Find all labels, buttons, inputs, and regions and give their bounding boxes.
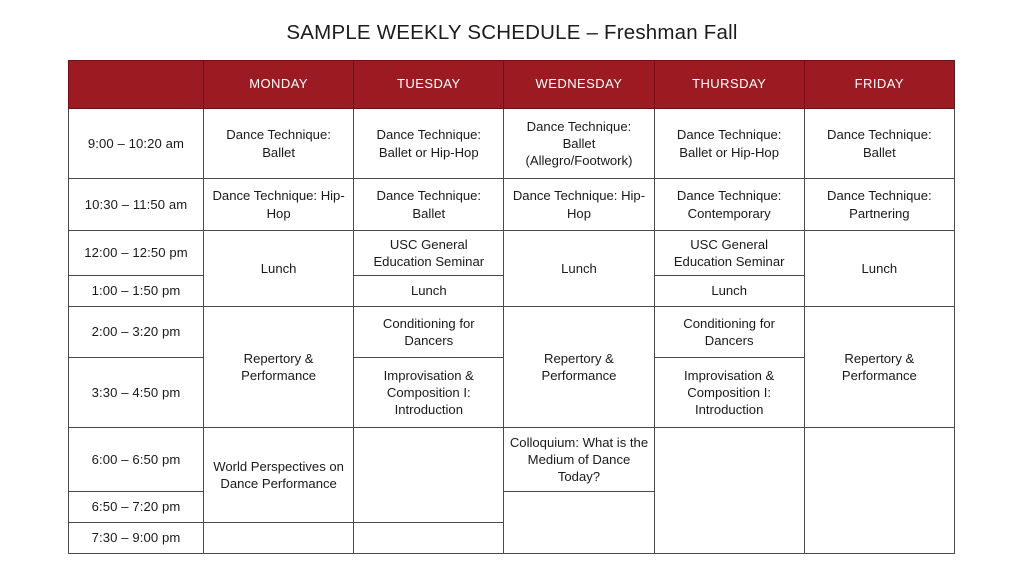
- header-corner: [69, 61, 204, 109]
- schedule-cell: Improvisation & Composition I: Introduct…: [354, 358, 504, 428]
- time-slot-label: 6:50 – 7:20 pm: [69, 492, 204, 523]
- table-header: MONDAY TUESDAY WEDNESDAY THURSDAY FRIDAY: [69, 61, 955, 109]
- schedule-cell-empty: [204, 523, 354, 554]
- header-thursday: THURSDAY: [654, 61, 804, 109]
- schedule-page: SAMPLE WEEKLY SCHEDULE – Freshman Fall M…: [0, 0, 1024, 576]
- schedule-cell: Dance Technique: Ballet (Allegro/Footwor…: [504, 109, 654, 179]
- time-slot-label: 10:30 – 11:50 am: [69, 179, 204, 231]
- table-row: 12:00 – 12:50 pmLunchUSC General Educati…: [69, 231, 955, 276]
- schedule-cell: Lunch: [654, 276, 804, 307]
- schedule-cell: Dance Technique: Hip-Hop: [204, 179, 354, 231]
- header-row: MONDAY TUESDAY WEDNESDAY THURSDAY FRIDAY: [69, 61, 955, 109]
- schedule-cell: World Perspectives on Dance Performance: [204, 428, 354, 523]
- schedule-cell-empty: [504, 492, 654, 554]
- header-monday: MONDAY: [204, 61, 354, 109]
- weekly-schedule-table: MONDAY TUESDAY WEDNESDAY THURSDAY FRIDAY…: [68, 60, 955, 554]
- time-slot-label: 9:00 – 10:20 am: [69, 109, 204, 179]
- page-title: SAMPLE WEEKLY SCHEDULE – Freshman Fall: [0, 21, 1024, 45]
- schedule-cell: Repertory & Performance: [504, 307, 654, 428]
- schedule-cell: Improvisation & Composition I: Introduct…: [654, 358, 804, 428]
- schedule-cell: Dance Technique: Ballet: [354, 179, 504, 231]
- schedule-cell-empty: [654, 428, 804, 554]
- time-slot-label: 3:30 – 4:50 pm: [69, 358, 204, 428]
- schedule-cell: Dance Technique: Partnering: [804, 179, 954, 231]
- time-slot-label: 1:00 – 1:50 pm: [69, 276, 204, 307]
- schedule-cell: Conditioning for Dancers: [654, 307, 804, 358]
- header-friday: FRIDAY: [804, 61, 954, 109]
- table-row: 10:30 – 11:50 amDance Technique: Hip-Hop…: [69, 179, 955, 231]
- schedule-cell: USC General Education Seminar: [654, 231, 804, 276]
- schedule-cell-empty: [354, 428, 504, 523]
- schedule-cell: Dance Technique: Ballet: [204, 109, 354, 179]
- schedule-cell: Lunch: [204, 231, 354, 307]
- schedule-cell: Conditioning for Dancers: [354, 307, 504, 358]
- table-row: 6:00 – 6:50 pmWorld Perspectives on Danc…: [69, 428, 955, 492]
- table-body: 9:00 – 10:20 amDance Technique: BalletDa…: [69, 109, 955, 554]
- schedule-cell: Lunch: [504, 231, 654, 307]
- schedule-cell: Dance Technique: Contemporary: [654, 179, 804, 231]
- schedule-cell: Dance Technique: Ballet: [804, 109, 954, 179]
- schedule-cell: Repertory & Performance: [204, 307, 354, 428]
- time-slot-label: 12:00 – 12:50 pm: [69, 231, 204, 276]
- schedule-cell: Dance Technique: Hip-Hop: [504, 179, 654, 231]
- schedule-cell: Lunch: [804, 231, 954, 307]
- schedule-cell: Colloquium: What is the Medium of Dance …: [504, 428, 654, 492]
- time-slot-label: 6:00 – 6:50 pm: [69, 428, 204, 492]
- time-slot-label: 7:30 – 9:00 pm: [69, 523, 204, 554]
- schedule-cell: Dance Technique: Ballet or Hip-Hop: [654, 109, 804, 179]
- schedule-cell: Repertory & Performance: [804, 307, 954, 428]
- schedule-cell-empty: [804, 428, 954, 554]
- table-row: 2:00 – 3:20 pmRepertory & PerformanceCon…: [69, 307, 955, 358]
- table-row: 9:00 – 10:20 amDance Technique: BalletDa…: [69, 109, 955, 179]
- header-wednesday: WEDNESDAY: [504, 61, 654, 109]
- schedule-cell-empty: [354, 523, 504, 554]
- schedule-cell: Dance Technique: Ballet or Hip-Hop: [354, 109, 504, 179]
- schedule-cell: USC General Education Seminar: [354, 231, 504, 276]
- schedule-cell: Lunch: [354, 276, 504, 307]
- time-slot-label: 2:00 – 3:20 pm: [69, 307, 204, 358]
- header-tuesday: TUESDAY: [354, 61, 504, 109]
